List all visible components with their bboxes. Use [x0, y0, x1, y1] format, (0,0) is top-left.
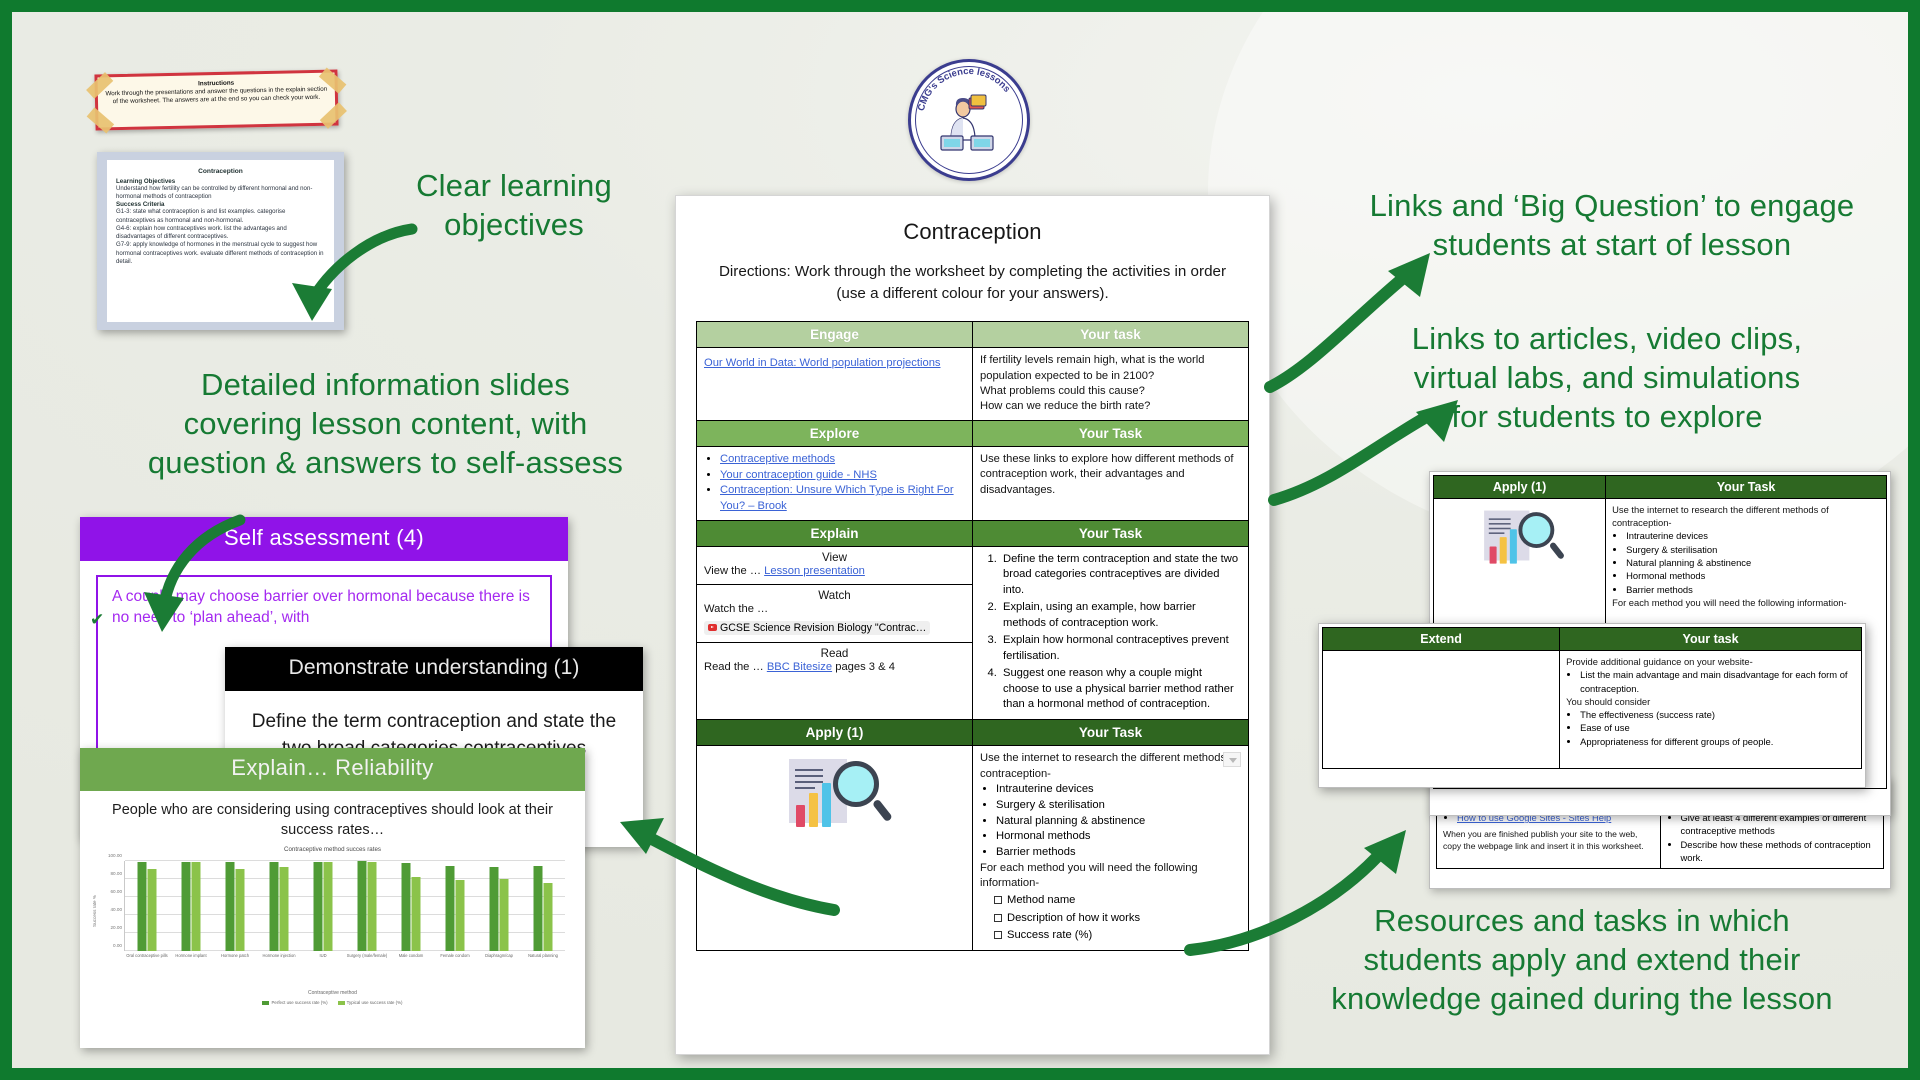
logo-artwork: CMG's Science lessons: [911, 62, 1027, 178]
instructions-card: Instructions Work through the presentati…: [94, 69, 338, 130]
checkbox-icon[interactable]: [994, 914, 1002, 922]
bar-group: Hormone implant: [182, 861, 201, 951]
sc-heading: Success Criteria: [116, 201, 325, 208]
youtube-icon: [708, 624, 717, 631]
engage-task-2: What problems could this cause?: [980, 384, 1241, 399]
chart-bar: [148, 869, 157, 951]
read-heading: Read: [704, 647, 965, 660]
explore-links-cell: Contraceptive methods Your contraception…: [697, 446, 973, 520]
apply-task-header: Your Task: [973, 720, 1249, 746]
instructions-body: Work through the presentations and answe…: [98, 86, 335, 108]
annotation-clear-learning-objectives: Clear learningobjectives: [364, 167, 664, 245]
bar-blue: [1509, 529, 1516, 563]
apply-method-list: Intrauterine devices Surgery & sterilisa…: [996, 782, 1241, 860]
y-axis-tick: 40.00: [96, 907, 122, 912]
checkbox-label: Success rate (%): [1007, 929, 1092, 941]
link-nhs-guide[interactable]: Your contraception guide - NHS: [720, 469, 877, 481]
link-contraceptive-methods[interactable]: Contraceptive methods: [720, 453, 835, 465]
list-item: Explain how hormonal contraceptives prev…: [1000, 633, 1241, 664]
bar-red: [796, 805, 805, 827]
chart-bar: [314, 862, 323, 951]
link-our-world-in-data[interactable]: Our World in Data: World population proj…: [704, 357, 941, 369]
list-item: Contraception: Unsure Which Type is Righ…: [720, 483, 965, 514]
apply-panel-method-list: Intrauterine devices Surgery & sterilisa…: [1626, 529, 1880, 596]
table-row: Apply (1) Your Task: [1434, 476, 1887, 499]
list-item: Intrauterine devices: [1626, 529, 1880, 542]
table-row-explain-header: Explain Your Task: [697, 520, 1249, 546]
link-bbc-bitesize[interactable]: BBC Bitesize: [767, 661, 832, 673]
y-axis-tick: 20.00: [96, 925, 122, 930]
research-magnifier-icon: [789, 757, 881, 833]
doc-line: [1488, 528, 1510, 530]
explain-resources-cell: View View the … Lesson presentation Watc…: [697, 546, 973, 720]
worksheet-directions: Directions: Work through the worksheet b…: [696, 261, 1249, 305]
checkbox-row[interactable]: Description of how it works: [994, 910, 1241, 928]
doc-line: [795, 775, 823, 777]
apply-panel-info-intro: For each method you will need the follow…: [1612, 596, 1880, 609]
chart-bar: [280, 867, 289, 952]
engage-task-cell: If fertility levels remain high, what is…: [973, 348, 1249, 421]
list-item: Ease of use: [1580, 721, 1855, 734]
apply-task-cell: Use the internet to research the differe…: [973, 746, 1249, 951]
extend-panel-blank-cell: [1323, 651, 1560, 769]
apply-tail-body: When you are finished publish your site …: [1443, 828, 1654, 852]
self-assessment-header: Self assessment (4): [80, 517, 568, 561]
apply-panel-task-header: Your Task: [1606, 476, 1887, 499]
engage-task-3: How can we reduce the birth rate?: [980, 399, 1241, 414]
youtube-chip-label: GCSE Science Revision Biology "Contrac…: [720, 622, 926, 634]
read-line: Read the … BBC Bitesize pages 3 & 4: [704, 660, 965, 675]
annotation-resources-apply-extend: Resources and tasks in whichstudents app…: [1272, 902, 1892, 1018]
checkbox-icon[interactable]: [994, 896, 1002, 904]
apply-panel-header: Apply (1): [1434, 476, 1606, 499]
legend-item: Perfect use success rate (%): [262, 1000, 327, 1005]
table-row: Provide additional guidance on your webs…: [1323, 651, 1862, 769]
list-item: Your contraception guide - NHS: [720, 468, 965, 484]
chart-title: Contraceptive method succes rates: [94, 846, 571, 853]
checkbox-row[interactable]: Method name: [994, 892, 1241, 910]
engage-task-header: Your task: [973, 322, 1249, 348]
worksheet-table: Engage Your task Our World in Data: Worl…: [696, 321, 1249, 951]
list-item: Hormonal methods: [996, 829, 1241, 845]
explore-header: Explore: [697, 420, 973, 446]
doc-line: [795, 769, 823, 771]
link-brook[interactable]: Contraception: Unsure Which Type is Righ…: [720, 484, 954, 512]
brand-logo: CMG's Science lessons: [908, 59, 1030, 181]
reliability-header: Explain… Reliability: [80, 748, 585, 791]
list-item: Explain, using an example, how barrier m…: [1000, 600, 1241, 631]
list-item: Define the term contraception and state …: [1000, 552, 1241, 598]
link-lesson-presentation[interactable]: Lesson presentation: [764, 565, 865, 577]
annotation-links-articles-videos: Links to articles, video clips,virtual l…: [1342, 320, 1872, 436]
chart-bar: [490, 867, 499, 952]
learning-objectives-slide: Contraception Learning Objectives Unders…: [97, 152, 344, 330]
extend-intro: Provide additional guidance on your webs…: [1566, 655, 1855, 668]
chart-bar: [456, 880, 465, 951]
list-item: Surgery & sterilisation: [996, 798, 1241, 814]
chart-bar: [192, 862, 201, 951]
bar-group: Hormone patch: [226, 861, 245, 951]
chart-legend: Perfect use success rate (%)Typical use …: [94, 1000, 571, 1005]
list-item: List the main advantage and main disadva…: [1580, 668, 1855, 695]
chart-bar: [412, 877, 421, 951]
research-magnifier-icon: [1484, 509, 1556, 568]
list-item: The effectiveness (success rate): [1580, 708, 1855, 721]
magnifier-handle: [1548, 541, 1564, 560]
chart-bar: [226, 862, 235, 951]
reliability-lead: People who are considering using contrac…: [94, 801, 571, 840]
doc-line: [1488, 532, 1504, 534]
doc-line: [795, 787, 815, 789]
chart-bar: [324, 862, 333, 951]
chart-bar: [446, 866, 455, 952]
demonstrate-header: Demonstrate understanding (1): [225, 647, 643, 691]
x-axis-tick: Natural planning: [517, 953, 569, 958]
apply-image-cell: [697, 746, 973, 951]
youtube-chip[interactable]: GCSE Science Revision Biology "Contrac…: [704, 621, 930, 635]
read-prefix: Read the …: [704, 661, 767, 673]
checkbox-icon[interactable]: [994, 931, 1002, 939]
engage-links-cell: Our World in Data: World population proj…: [697, 348, 973, 421]
explain-task-cell: Define the term contraception and state …: [973, 546, 1249, 720]
chart-bar: [544, 883, 553, 951]
checkbox-label: Method name: [1007, 894, 1075, 906]
chart-bar: [182, 862, 191, 951]
chart-bar: [138, 862, 147, 951]
checkbox-label: Description of how it works: [1007, 912, 1140, 924]
bar-group: IUD: [314, 861, 333, 951]
read-suffix: pages 3 & 4: [832, 661, 895, 673]
table-row-engage: Our World in Data: World population proj…: [697, 348, 1249, 421]
apply-intro: Use the internet to research the differe…: [980, 751, 1241, 782]
chart-bar: [402, 863, 411, 951]
watch-heading: Watch: [704, 589, 965, 602]
worksheet-document: Contraception Directions: Work through t…: [675, 195, 1270, 1055]
bar-group: Hormone injection: [270, 861, 289, 951]
view-line: View the … Lesson presentation: [704, 564, 965, 579]
extend-panel-task-cell: Provide additional guidance on your webs…: [1560, 651, 1862, 769]
explore-task-header: Your Task: [973, 420, 1249, 446]
explore-task-text: Use these links to explore how different…: [980, 452, 1241, 498]
table-row-apply: Use the internet to research the differe…: [697, 746, 1249, 951]
doc-line: [1488, 523, 1510, 525]
table-row-explore: Contraceptive methods Your contraception…: [697, 446, 1249, 520]
list-item: Contraceptive methods: [720, 452, 965, 468]
explain-header: Explain: [697, 520, 973, 546]
bar-group: Male condom: [402, 861, 421, 951]
magnifier-lens: [833, 761, 879, 807]
apply-info-intro: For each method you will need the follow…: [980, 861, 1241, 892]
y-axis-tick: 80.00: [96, 871, 122, 876]
table-row: Extend Your task: [1323, 628, 1862, 651]
chart-bar: [358, 861, 367, 951]
watch-block: Watch Watch the … GCSE Science Revision …: [697, 585, 972, 642]
explore-link-list: Contraceptive methods Your contraception…: [720, 452, 965, 515]
list-item: Hormonal methods: [1626, 569, 1880, 582]
engage-header: Engage: [697, 322, 973, 348]
criteria-2: G4-6: explain how contraceptives work. l…: [116, 225, 325, 241]
annotation-detailed-info-slides: Detailed information slidescovering less…: [98, 366, 673, 482]
chart-plot-area: Success rate % 0.0020.0040.0060.0080.001…: [94, 857, 571, 977]
success-rate-chart: Contraceptive method succes rates Succes…: [94, 846, 571, 1005]
extend-panel: Extend Your task Provide additional guid…: [1318, 623, 1866, 788]
explain-task-header: Your Task: [973, 520, 1249, 546]
list-item: Intrauterine devices: [996, 782, 1241, 798]
extend-panel-task-header: Your task: [1560, 628, 1862, 651]
bar-red: [1489, 546, 1496, 563]
preview-canvas: CMG's Science lessons Instructions Work …: [12, 12, 1908, 1068]
y-axis-tick: 100.00: [96, 853, 122, 858]
reliability-body: People who are considering using contrac…: [80, 791, 585, 1048]
bar-group: Oral contraceptive pills: [138, 861, 157, 951]
apply-header: Apply (1): [697, 720, 973, 746]
extend-consider-list: The effectiveness (success rate) Ease of…: [1580, 708, 1855, 748]
explain-task-list: Define the term contraception and state …: [1000, 552, 1241, 713]
bar-group: Natural planning: [534, 861, 553, 951]
table-row-engage-header: Engage Your task: [697, 322, 1249, 348]
apply-tail-right-list: Give at least 4 different examples of di…: [1681, 811, 1878, 864]
extend-bullet-list: List the main advantage and main disadva…: [1580, 668, 1855, 695]
bar-group: Diaphragm/cap: [490, 861, 509, 951]
magnifier-lens: [1518, 512, 1554, 548]
check-mark-icon: ✔: [90, 610, 104, 630]
engage-task-1: If fertility levels remain high, what is…: [980, 353, 1241, 384]
bar-group: Female condom: [446, 861, 465, 951]
list-item: Natural planning & abstinence: [1626, 556, 1880, 569]
legend-item: Typical use success rate (%): [338, 1000, 403, 1005]
view-prefix: View the …: [704, 565, 764, 577]
read-block: Read Read the … BBC Bitesize pages 3 & 4: [697, 643, 972, 697]
table-row-explore-header: Explore Your Task: [697, 420, 1249, 446]
bar-group: Surgery (male/female): [358, 861, 377, 951]
list-item: Describe how these methods of contracept…: [1681, 838, 1878, 865]
self-assessment-text: A couple may choose barrier over hormona…: [112, 587, 536, 629]
y-axis-tick: 0.00: [96, 943, 122, 948]
list-item: Suggest one reason why a couple might ch…: [1000, 666, 1241, 712]
doc-line: [1488, 518, 1510, 520]
checkbox-row[interactable]: Success rate (%): [994, 927, 1241, 945]
criteria-1: G1-3: state what contraception is and li…: [116, 208, 325, 224]
list-item: Barrier methods: [996, 845, 1241, 861]
watch-prefix: Watch the …: [704, 602, 965, 617]
bar-yellow: [1499, 537, 1506, 564]
apply-panel-intro: Use the internet to research the differe…: [1612, 503, 1880, 529]
lo-slide-title: Contraception: [116, 168, 325, 175]
explain-reliability-slide: Explain… Reliability People who are cons…: [80, 748, 585, 1048]
chart-bar: [534, 866, 543, 952]
view-heading: View: [704, 551, 965, 564]
list-item: Surgery & sterilisation: [1626, 543, 1880, 556]
criteria-3: G7-9: apply knowledge of hormones in the…: [116, 241, 325, 266]
list-item: Barrier methods: [1626, 583, 1880, 596]
doc-line: [795, 781, 823, 783]
tape-bottom-right: [320, 102, 347, 129]
table-row-apply-header: Apply (1) Your Task: [697, 720, 1249, 746]
outer-green-frame: CMG's Science lessons Instructions Work …: [0, 0, 1920, 1080]
list-item: Appropriateness for different groups of …: [1580, 735, 1855, 748]
tape-bottom-left: [87, 107, 115, 133]
lo-text: Understand how fertility can be controll…: [116, 185, 325, 201]
annotation-links-big-question: Links and ‘Big Question’ to engagestuden…: [1312, 187, 1908, 265]
table-row-explain: View View the … Lesson presentation Watc…: [697, 546, 1249, 720]
magnifier-handle: [871, 799, 892, 823]
chart-bar: [500, 879, 509, 951]
explore-task-cell: Use these links to explore how different…: [973, 446, 1249, 520]
bar-blue: [822, 783, 831, 827]
chart-bars: 0.0020.0040.0060.0080.00100.00Oral contr…: [124, 861, 565, 951]
chart-bar: [270, 862, 279, 951]
list-item: Natural planning & abstinence: [996, 814, 1241, 830]
learning-objectives-content: Contraception Learning Objectives Unders…: [107, 160, 334, 322]
chevron-down-icon[interactable]: [1223, 752, 1241, 767]
extend-consider-intro: You should consider: [1566, 695, 1855, 708]
extend-panel-table: Extend Your task Provide additional guid…: [1322, 627, 1862, 769]
chart-bar: [368, 862, 377, 951]
chart-bar: [236, 869, 245, 951]
y-axis-tick: 60.00: [96, 889, 122, 894]
chart-xlabel: Contraceptive method: [94, 990, 571, 996]
bar-yellow: [809, 793, 818, 827]
worksheet-title: Contraception: [696, 219, 1249, 245]
extend-panel-header: Extend: [1323, 628, 1560, 651]
lo-heading: Learning Objectives: [116, 178, 325, 185]
view-block: View View the … Lesson presentation: [697, 547, 972, 585]
